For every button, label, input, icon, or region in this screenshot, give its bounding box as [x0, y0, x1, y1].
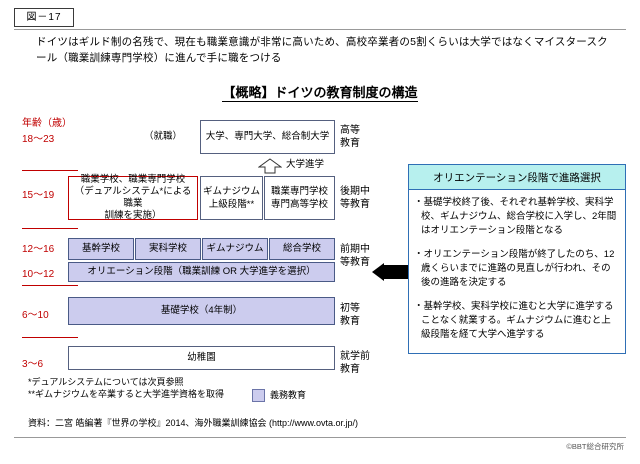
box-gymnasium-upper-line2: 上級段階**	[209, 198, 254, 211]
copyright-note: ©BBT総合研究所	[566, 441, 624, 452]
stage-primary: 初等 教育	[340, 302, 360, 328]
employment-label: （就職）	[118, 130, 208, 143]
box-kindergarten: 幼稚園	[68, 346, 335, 370]
bottom-divider	[14, 437, 626, 438]
age-divider-2	[22, 228, 78, 229]
age-divider-4	[22, 337, 78, 338]
box-vocational-dual-line1: 職業学校、職業専門学校	[81, 174, 186, 186]
stage-preschool: 就学前 教育	[340, 350, 370, 376]
lead-paragraph: ドイツはギルド制の名残で、現在も職業意識が非常に高いため、高校卒業者の5割くらい…	[36, 34, 616, 66]
slide-canvas: 図－17 ドイツはギルド制の名残で、現在も職業意識が非常に高いため、高校卒業者の…	[0, 0, 640, 464]
legend-label: 義務教育	[270, 389, 306, 401]
age-divider-1	[22, 170, 78, 171]
callout-item-2: ・オリエンテーション段階が終了したのち、12歳くらいまでに進路の見直しが行われ、…	[414, 248, 620, 290]
box-vocational-dual: 職業学校、職業専門学校 （デュアルシステム*による職業 訓練を実施）	[68, 176, 198, 220]
figure-tag: 図－17	[14, 8, 74, 27]
age-label-18-23: 18～23	[22, 130, 76, 145]
box-gymnasium-upper: ギムナジウム 上級段階**	[200, 176, 263, 220]
box-vocational-highschool-line1: 職業専門学校	[271, 185, 328, 198]
box-grundschule: 基礎学校（4年制）	[68, 297, 335, 325]
box-vocational-highschool-line2: 専門高等学校	[271, 198, 328, 211]
page-title-text: 【概略】ドイツの教育制度の構造	[222, 85, 417, 102]
callout-item-3: ・基幹学校、実科学校に進むと大学に進学することなく就業する。ギムナジウムに進むと…	[414, 300, 620, 342]
stage-higher: 高等 教育	[340, 124, 360, 150]
top-divider	[14, 29, 626, 30]
callout-heading: オリエンテーション段階で進路選択	[408, 164, 626, 190]
box-university: 大学、専門大学、総合制大学	[200, 120, 335, 154]
box-orientation-stage: オリエーション段階（職業訓練 OR 大学進学を選択）	[68, 262, 335, 282]
box-hauptschule: 基幹学校	[68, 238, 134, 260]
page-title: 【概略】ドイツの教育制度の構造	[0, 82, 640, 101]
callout-item-1: ・基礎学校終了後、それぞれ基幹学校、実科学校、ギムナジウム、総合学校に入学し、2…	[414, 196, 620, 238]
source-note: 資料：二宮 皓編著『世界の学校』2014、海外職業訓練協会 (http://ww…	[28, 416, 358, 429]
box-realschule: 実科学校	[135, 238, 201, 260]
label-university-entry: 大学進学	[286, 158, 324, 171]
stage-lower-secondary: 前期中 等教育	[340, 243, 370, 269]
box-vocational-dual-line2: （デュアルシステム*による職業	[70, 186, 196, 210]
box-gesamtschule: 総合学校	[269, 238, 335, 260]
box-gymnasium: ギムナジウム	[202, 238, 268, 260]
age-divider-3	[22, 285, 78, 286]
axis-header: 年齢（歳）	[22, 114, 72, 129]
callout-body: ・基礎学校終了後、それぞれ基幹学校、実科学校、ギムナジウム、総合学校に入学し、2…	[414, 196, 620, 352]
footnote-2: **ギムナジウムを卒業すると大学進学資格を取得	[28, 388, 224, 400]
box-gymnasium-upper-line1: ギムナジウム	[203, 185, 260, 198]
stage-upper-secondary: 後期中 等教育	[340, 185, 370, 211]
footnote-1: *デュアルシステムについては次頁参照	[28, 376, 184, 388]
legend-swatch	[252, 389, 265, 402]
box-vocational-dual-line3: 訓練を実施）	[104, 210, 161, 222]
arrow-university-entry-icon	[258, 158, 282, 174]
box-vocational-highschool: 職業専門学校 専門高等学校	[264, 176, 335, 220]
arrow-callout-pointer-icon	[372, 263, 408, 281]
